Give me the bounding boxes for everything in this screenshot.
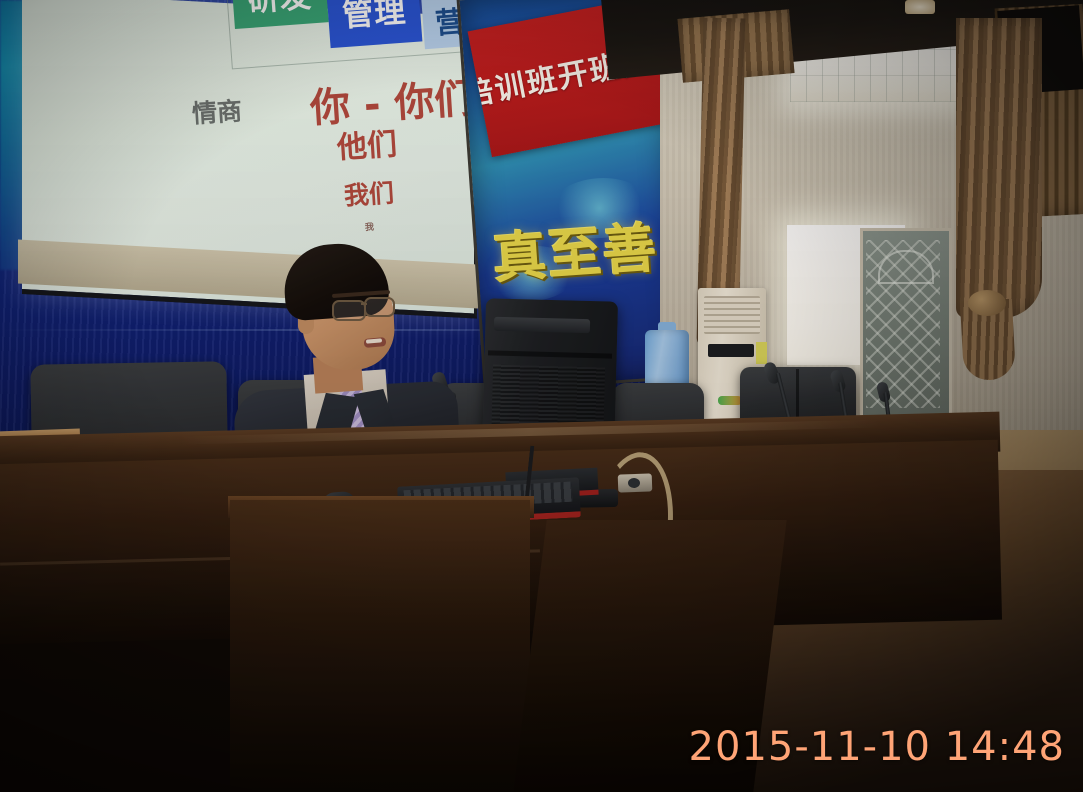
- monitor-vent: [494, 317, 590, 334]
- slide-label-eq: 情商: [191, 98, 242, 126]
- eyeglasses-bridge: [361, 303, 367, 305]
- slide-red-line-1: 你 - 你们: [309, 79, 476, 129]
- ceiling-light-fixture: [905, 0, 935, 14]
- calligraphy-char-2: 至: [546, 224, 604, 282]
- curtain-right: [956, 18, 1042, 318]
- calligraphy-char-1: 真: [491, 228, 549, 286]
- timestamp-watermark: 2015-11-10 14:48: [689, 724, 1065, 770]
- desk-foreground-block: [230, 500, 530, 792]
- slide-footnote: 我: [365, 224, 375, 234]
- slide-red-line-2: 他们: [336, 130, 398, 164]
- slide-category-boxes: 业 研发 管理 融资 营销: [218, 0, 498, 82]
- air-conditioner-label: [756, 342, 767, 364]
- air-conditioner-logo: [718, 396, 742, 405]
- air-conditioner-display: [708, 344, 754, 357]
- calligraphy-char-3: 善: [601, 220, 659, 278]
- slide-box-guanli: 管理: [326, 0, 422, 48]
- eyeglasses-lens-right: [364, 297, 395, 317]
- air-conditioner-vents: [704, 296, 760, 334]
- photograph: 业 研发 管理 融资 营销 情商 你 - 你们 他们 我们 我 培训班开班典礼 …: [0, 0, 1083, 792]
- curtain-tieback: [968, 290, 1006, 316]
- slide-red-line-3: 我们: [343, 180, 394, 208]
- desk-device-lens: [628, 478, 640, 488]
